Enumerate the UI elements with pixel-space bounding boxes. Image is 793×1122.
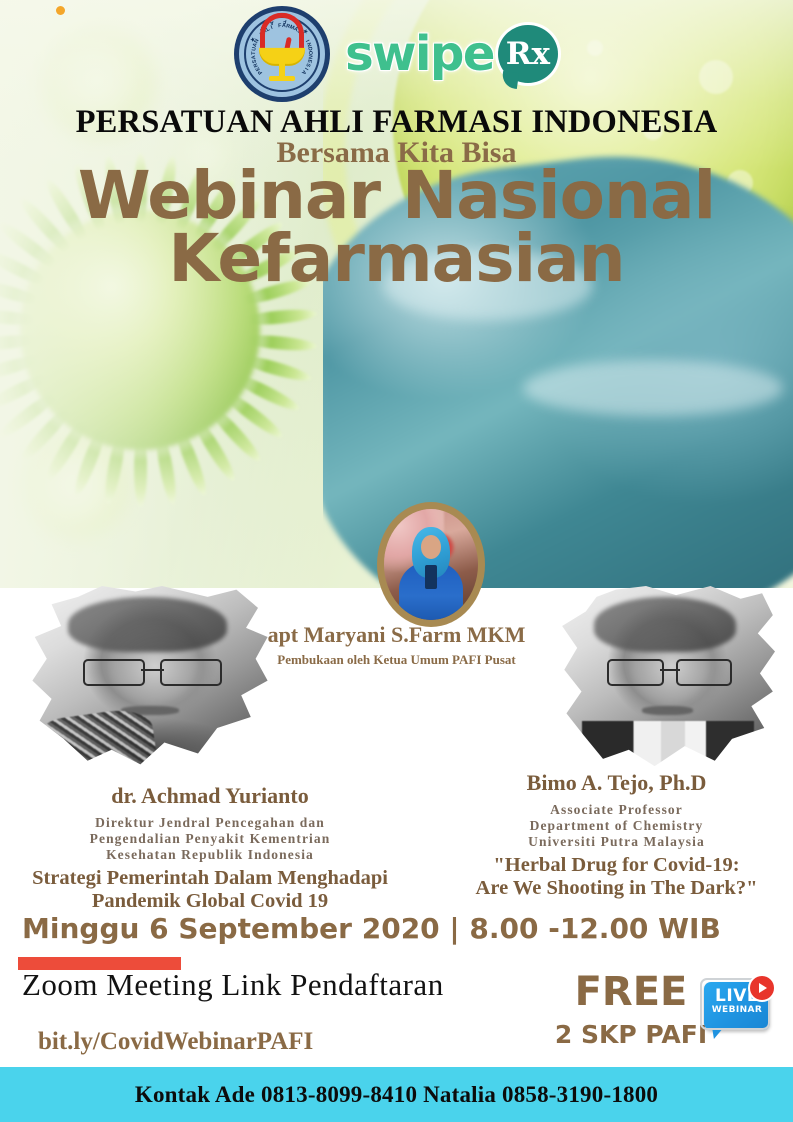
skp-credits: 2 SKP PAFI [536,1020,726,1049]
price-badge: FREE [556,972,706,1012]
speaker-left-topic: Strategi Pemerintah Dalam Menghadapi Pan… [0,867,420,913]
pafi-ring-letter: A [251,55,257,60]
speaker-left-topic-line: Strategi Pemerintah Dalam Menghadapi [0,867,420,890]
speaker-right-role-line: Universiti Putra Malaysia [440,834,793,850]
speaker-right-topic-line: "Herbal Drug for Covid-19: [440,854,793,877]
webinar-poster: PERSATUAN AHLI FARMASI INDONESIA★ P A F … [0,0,793,1122]
pafi-ring-letter: T [251,51,257,55]
speaker-right-mouth [642,706,694,715]
chairperson-name: apt Maryani S.Farm MKM [0,622,793,648]
event-datetime: Minggu 6 September 2020 | 8.00 -12.00 WI… [22,912,721,945]
speaker-right-info: Bimo A. Tejo, Ph.D Associate Professor D… [440,770,793,900]
contact-text: Kontak Ade 0813-8099-8410 Natalia 0858-3… [135,1082,658,1108]
rx-speech-bubble-icon: Rx [498,25,558,83]
contact-footer: Kontak Ade 0813-8099-8410 Natalia 0858-3… [0,1067,793,1122]
live-badge-line2: WEBINAR [704,1005,770,1015]
speaker-left-role: Direktur Jendral Pencegahan dan Pengenda… [0,815,420,863]
play-icon [748,974,776,1002]
live-webinar-badge: LIVE WEBINAR [700,976,774,1042]
speaker-right-topic-line: Are We Shooting in The Dark?" [440,877,793,900]
page-title-line2: Kefarmasian [0,227,793,290]
speaker-right-role: Associate Professor Department of Chemis… [440,802,793,850]
swiperx-logo: swipe Rx [345,25,558,83]
rx-badge-label: Rx [506,39,550,70]
registration-label: Zoom Meeting Link Pendaftaran [22,967,444,1003]
pafi-logo: PERSATUAN AHLI FARMASI INDONESIA★ P A F … [235,7,329,101]
speaker-right-name: Bimo A. Tejo, Ph.D [440,770,793,796]
speaker-right-role-line: Department of Chemistry [440,818,793,834]
chairperson-avatar [377,502,485,627]
chairperson-role: Pembukaan oleh Ketua Umum PAFI Pusat [0,652,793,668]
speaker-left-role-line: Pengendalian Penyakit Kementrian [0,831,420,847]
registration-link[interactable]: bit.ly/CovidWebinarPAFI [38,1028,313,1056]
swipe-dot-icon [56,6,65,15]
speaker-left-topic-line: Pandemik Global Covid 19 [0,890,420,913]
bowl-base [269,76,295,81]
logo-row: PERSATUAN AHLI FARMASI INDONESIA★ P A F … [0,8,793,100]
speaker-right-topic: "Herbal Drug for Covid-19: Are We Shooti… [440,854,793,900]
glove-highlight [523,360,783,416]
speaker-left-info: dr. Achmad Yurianto Direktur Jendral Pen… [0,783,420,913]
speaker-left-name: dr. Achmad Yurianto [0,783,420,809]
speaker-left-role-line: Direktur Jendral Pencegahan dan [0,815,420,831]
avatar-photo [384,509,478,620]
speaker-right-role-line: Associate Professor [440,802,793,818]
page-title: Webinar Nasional Kefarmasian [0,164,793,291]
avatar-face [421,535,442,559]
avatar-collar [425,565,436,589]
speaker-left-role-line: Kesehatan Republik Indonesia [0,847,420,863]
swipe-wordmark: swipe [345,26,494,82]
